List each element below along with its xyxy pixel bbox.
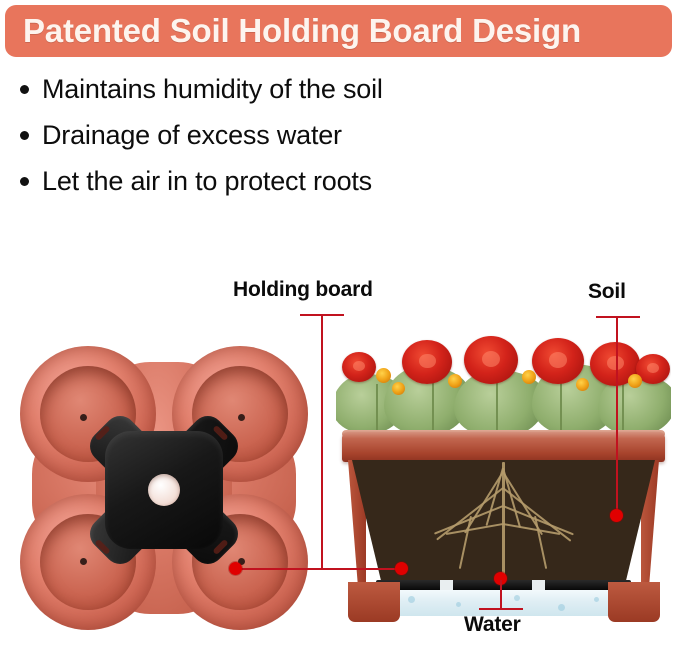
chrysanthemum-bloom <box>402 340 452 384</box>
water-bubble <box>456 602 461 607</box>
board-peg <box>238 414 245 421</box>
board-peg <box>80 414 87 421</box>
chrysanthemum-bloom <box>342 352 376 382</box>
plant-stem <box>622 380 624 434</box>
leader-line-holding-board <box>321 314 323 569</box>
product-diagram: Holding board Soil Water <box>0 250 679 652</box>
feature-text: Maintains humidity of the soil <box>42 74 383 105</box>
header-banner: Patented Soil Holding Board Design <box>5 5 672 57</box>
accent-bloom <box>628 374 642 388</box>
water-bubble <box>514 595 520 601</box>
leader-cap-soil <box>596 316 640 318</box>
callout-dot-holding-board-right <box>395 562 408 575</box>
bullet-point-icon <box>20 85 29 94</box>
page-title: Patented Soil Holding Board Design <box>23 12 581 50</box>
feature-list: Maintains humidity of the soil Drainage … <box>20 74 660 212</box>
plant-foliage <box>336 330 671 442</box>
chrysanthemum-bloom <box>532 338 584 384</box>
callout-dot-holding-board-left <box>229 562 242 575</box>
accent-bloom <box>522 370 536 384</box>
top-down-planter-illustration <box>14 342 314 634</box>
callout-label-soil: Soil <box>588 280 626 304</box>
water-bubble <box>594 597 599 602</box>
leader-cap-water <box>479 608 523 610</box>
board-peg <box>80 558 87 565</box>
callout-dot-soil <box>610 509 623 522</box>
callout-label-holding-board: Holding board <box>233 278 373 302</box>
feature-text: Let the air in to protect roots <box>42 166 372 197</box>
leader-line-soil <box>616 316 618 515</box>
holding-board-insert <box>72 398 256 582</box>
plant-stem <box>376 384 378 434</box>
bullet-point-icon <box>20 131 29 140</box>
callout-label-water: Water <box>464 613 521 637</box>
chrysanthemum-bloom <box>464 336 518 384</box>
list-item: Drainage of excess water <box>20 120 660 166</box>
water-bubble <box>558 604 565 611</box>
accent-bloom <box>448 374 462 388</box>
drainage-hole-icon <box>148 474 180 506</box>
leader-line-water <box>500 580 502 609</box>
accent-bloom <box>576 378 589 391</box>
accent-bloom <box>376 368 391 383</box>
pot-foot-right <box>608 582 660 622</box>
plant-stem <box>432 376 434 434</box>
list-item: Let the air in to protect roots <box>20 166 660 212</box>
bullet-point-icon <box>20 177 29 186</box>
list-item: Maintains humidity of the soil <box>20 74 660 120</box>
accent-bloom <box>392 382 405 395</box>
water-bubble <box>408 596 415 603</box>
feature-text: Drainage of excess water <box>42 120 342 151</box>
pot-foot-left <box>348 582 400 622</box>
leader-line-holding-board-horizontal <box>235 568 407 570</box>
